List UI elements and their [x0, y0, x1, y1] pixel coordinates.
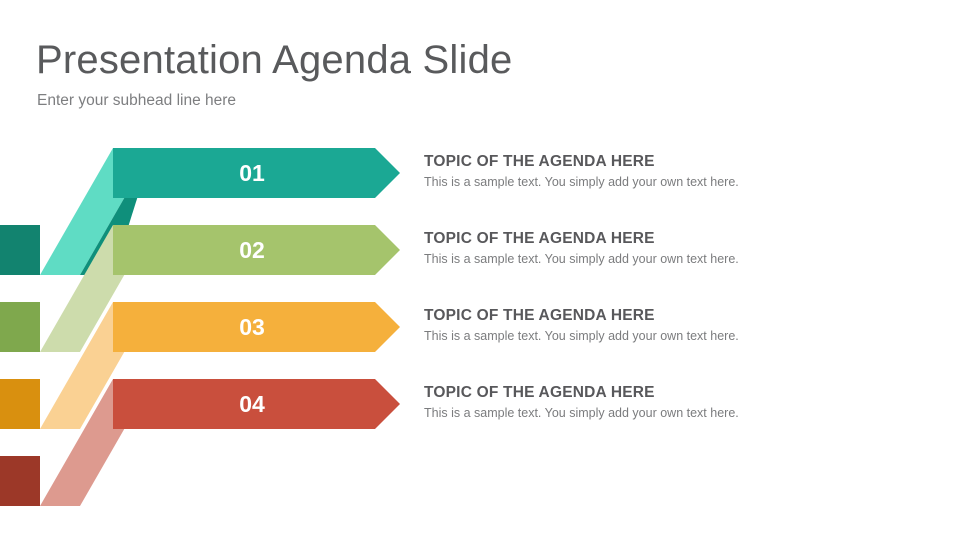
agenda-topic-2: TOPIC OF THE AGENDA HERE [424, 230, 655, 248]
tail-block-3 [0, 379, 40, 429]
agenda-desc-1: This is a sample text. You simply add yo… [424, 175, 739, 189]
agenda-number-1: 01 [207, 162, 297, 185]
tail-block-2 [0, 302, 40, 352]
agenda-topic-1: TOPIC OF THE AGENDA HERE [424, 153, 655, 171]
agenda-slide: Presentation Agenda Slide Enter your sub… [0, 0, 960, 540]
agenda-topic-4: TOPIC OF THE AGENDA HERE [424, 384, 655, 402]
agenda-number-4: 04 [207, 393, 297, 416]
agenda-ribbon-graphic [0, 0, 960, 540]
agenda-desc-4: This is a sample text. You simply add yo… [424, 406, 739, 420]
agenda-number-3: 03 [207, 316, 297, 339]
agenda-number-2: 02 [207, 239, 297, 262]
agenda-desc-3: This is a sample text. You simply add yo… [424, 329, 739, 343]
tail-block-1 [0, 225, 40, 275]
agenda-desc-2: This is a sample text. You simply add yo… [424, 252, 739, 266]
agenda-topic-3: TOPIC OF THE AGENDA HERE [424, 307, 655, 325]
tail-block-4 [0, 456, 40, 506]
